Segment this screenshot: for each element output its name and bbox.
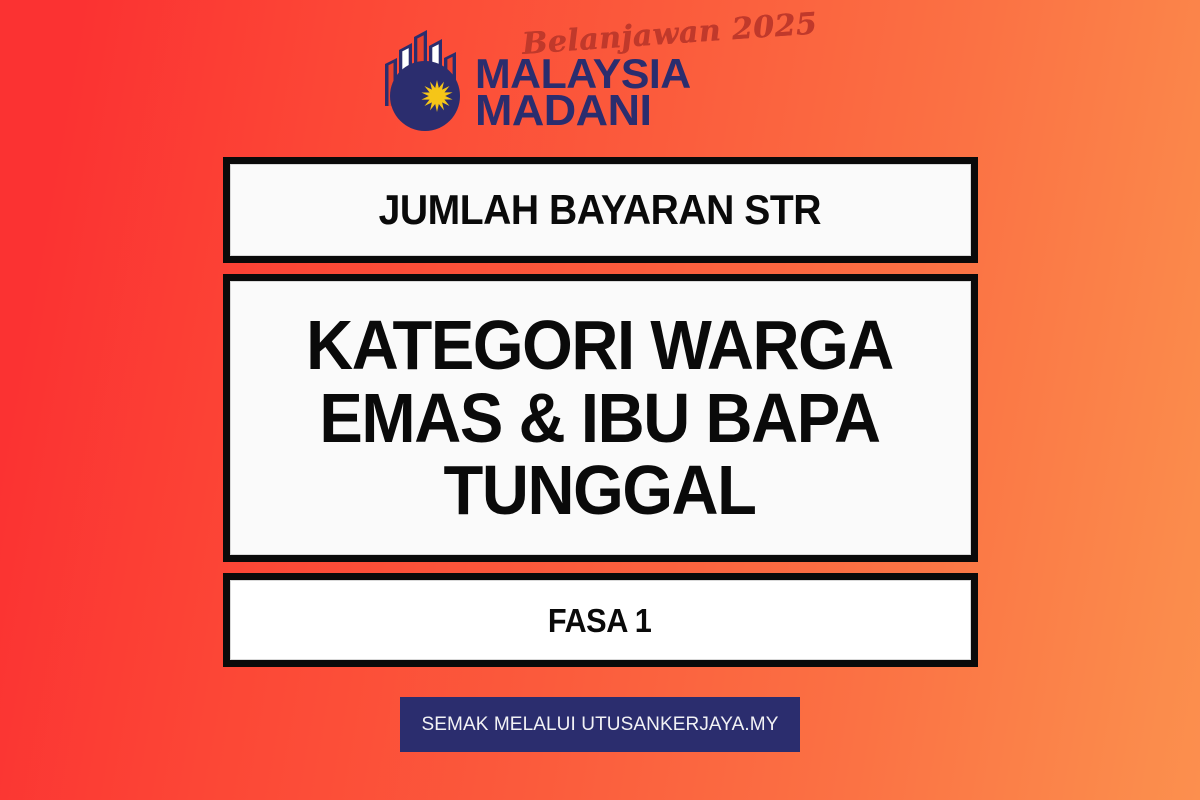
- panel-phase: FASA 1: [223, 573, 978, 667]
- panel-payment-total: JUMLAH BAYARAN STR: [223, 157, 978, 263]
- panel-main-title-line-1: KATEGORI WARGA: [307, 309, 894, 382]
- malaysia-madani-logo: Belanjawan 2025 MALAYSIA MADANI: [381, 14, 819, 132]
- panel-phase-title: FASA 1: [548, 604, 652, 637]
- panel-category-headline: KATEGORI WARGA EMAS & IBU BAPA TUNGGAL: [223, 274, 978, 562]
- panel-main-title-line-2: EMAS & IBU BAPA: [307, 382, 894, 455]
- check-via-website-button[interactable]: SEMAK MELALUI UTUSANKERJAYA.MY: [400, 697, 800, 752]
- check-via-website-label: SEMAK MELALUI UTUSANKERJAYA.MY: [421, 714, 778, 736]
- panel-main-title-line-3: TUNGGAL: [307, 454, 894, 527]
- logo-name-line-2: MADANI: [475, 92, 826, 130]
- logo-wordmark: Belanjawan 2025 MALAYSIA MADANI: [475, 30, 819, 132]
- panel-top-title: JUMLAH BAYARAN STR: [379, 189, 821, 231]
- poster-canvas: Belanjawan 2025 MALAYSIA MADANI JUMLAH B…: [0, 0, 1200, 800]
- malaysia-madani-crescent-star-skyline-icon: [381, 28, 473, 132]
- panel-main-title: KATEGORI WARGA EMAS & IBU BAPA TUNGGAL: [307, 309, 894, 527]
